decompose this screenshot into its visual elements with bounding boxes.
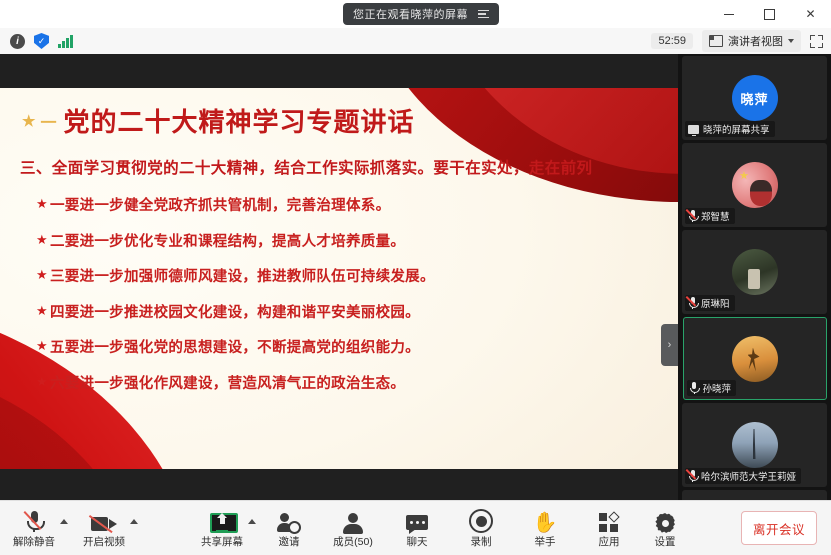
list-item-text: 六要进一步强化作风建设，营造风清气正的政治生态。: [50, 372, 405, 393]
fullscreen-icon[interactable]: [810, 35, 823, 48]
meeting-view-controls: 52:59 演讲者视图: [651, 30, 823, 52]
participants-icon: [343, 507, 363, 533]
viewing-screen-text: 您正在观看晓萍的屏幕: [353, 6, 468, 22]
participant-name: 晓萍的屏幕共享: [703, 122, 770, 136]
star-icon: ★: [36, 304, 48, 319]
collapse-filmstrip-handle[interactable]: ›: [661, 324, 678, 366]
avatar: [732, 249, 778, 295]
list-item: ★ 四要进一步推进校园文化建设，构建和谐平安美丽校园。: [36, 301, 435, 322]
invite-button[interactable]: 邀请: [261, 507, 317, 548]
avatar: [732, 336, 778, 382]
gear-icon: [655, 507, 675, 533]
participants-label: 成员(50): [333, 536, 373, 548]
share-screen-button[interactable]: 共享屏幕: [194, 507, 250, 548]
participant-tile-screenshare[interactable]: 晓萍 晓萍的屏幕共享: [682, 56, 827, 140]
list-item: ★ 五要进一步强化党的思想建设，不断提高党的组织能力。: [36, 336, 435, 357]
leave-meeting-button[interactable]: 离开会议: [741, 511, 817, 545]
participant-name: 孙晓萍: [703, 381, 732, 395]
participant-tile[interactable]: 原琳阳: [682, 230, 827, 314]
participant-tile[interactable]: 郑智慧: [682, 143, 827, 227]
chat-label: 聊天: [407, 536, 428, 548]
star-icon: ★: [36, 233, 48, 248]
avatar: [732, 422, 778, 468]
meeting-timer: 52:59: [651, 33, 693, 49]
mic-muted-icon: [27, 507, 42, 533]
raise-hand-icon: ✋: [533, 507, 558, 533]
record-icon: [469, 507, 493, 533]
presentation-slide: ★ 一 党的二十大精神学习专题讲话 三、全面学习贯彻党的二十大精神，结合工作实际…: [0, 88, 678, 469]
list-item-text: 四要进一步推进校园文化建设，构建和谐平安美丽校园。: [50, 301, 420, 322]
participants-filmstrip[interactable]: 晓萍 晓萍的屏幕共享 郑智慧 原琳阳: [678, 54, 831, 500]
participant-tile-partial[interactable]: ⌄: [682, 490, 827, 500]
signal-icon[interactable]: [58, 35, 73, 48]
chat-icon: [406, 507, 428, 533]
slide-title-dash: 一: [40, 109, 57, 133]
list-item-text: 五要进一步强化党的思想建设，不断提高党的组织能力。: [50, 336, 420, 357]
viewing-screen-banner: 您正在观看晓萍的屏幕: [343, 3, 499, 25]
unmute-label: 解除静音: [13, 536, 55, 548]
participant-tile[interactable]: 哈尔滨师范大学王莉娅: [682, 403, 827, 487]
zoom-meeting-window: 您正在观看晓萍的屏幕 ✕ i ✓ 52:59 演讲者视图: [0, 0, 831, 554]
list-item: ★ 六要进一步强化作风建设，营造风清气正的政治生态。: [36, 372, 435, 393]
window-controls: ✕: [708, 0, 831, 28]
participant-label: 郑智慧: [685, 208, 735, 224]
chevron-down-icon: [788, 39, 794, 43]
mic-icon: [690, 382, 699, 394]
avatar: [732, 162, 778, 208]
audio-options-caret[interactable]: [60, 519, 68, 524]
participants-button[interactable]: 成员(50): [325, 507, 381, 548]
list-item-text: 二要进一步优化专业和课程结构，提高人才培养质量。: [50, 230, 405, 251]
info-icon[interactable]: i: [10, 34, 25, 49]
start-video-button[interactable]: 开启视频: [76, 507, 132, 548]
record-button[interactable]: 录制: [453, 507, 509, 548]
shield-icon[interactable]: ✓: [34, 33, 49, 49]
star-icon: ★: [36, 268, 48, 283]
chat-button[interactable]: 聊天: [389, 507, 445, 548]
list-item-text: 三要进一步加强师德师风建设，推进教师队伍可持续发展。: [50, 265, 435, 286]
meeting-status-icons: i ✓: [0, 33, 73, 49]
slide-content: ★ 一 党的二十大精神学习专题讲话 三、全面学习贯彻党的二十大精神，结合工作实际…: [0, 88, 678, 469]
slide-title-text: 党的二十大精神学习专题讲话: [63, 102, 414, 139]
speaker-view-icon: [709, 35, 723, 47]
participant-name: 郑智慧: [701, 209, 730, 223]
invite-icon: [277, 507, 301, 533]
slide-title: ★ 一 党的二十大精神学习专题讲话: [22, 102, 414, 139]
star-icon: ★: [36, 197, 48, 212]
view-mode-selector[interactable]: 演讲者视图: [702, 30, 801, 52]
apps-icon: [599, 507, 619, 533]
list-item-text: 一要进一步健全党政齐抓共管机制，完善治理体系。: [50, 194, 390, 215]
share-options-caret[interactable]: [248, 519, 256, 524]
raise-hand-button[interactable]: ✋ 举手: [517, 507, 573, 548]
list-item: ★ 二要进一步优化专业和课程结构，提高人才培养质量。: [36, 230, 435, 251]
star-icon: ★: [36, 375, 48, 390]
star-icon: ★: [36, 339, 48, 354]
avatar: 晓萍: [732, 75, 778, 121]
invite-label: 邀请: [279, 536, 300, 548]
apps-label: 应用: [599, 536, 620, 548]
camera-off-icon: [91, 507, 117, 533]
participant-name: 哈尔滨师范大学王莉娅: [701, 469, 796, 483]
title-bar: 您正在观看晓萍的屏幕 ✕: [0, 0, 831, 28]
video-options-caret[interactable]: [130, 519, 138, 524]
slide-bullet-list: ★ 一要进一步健全党政齐抓共管机制，完善治理体系。 ★ 二要进一步优化专业和课程…: [36, 194, 435, 407]
mic-muted-icon: [688, 210, 697, 222]
slide-heading: 三、全面学习贯彻党的二十大精神，结合工作实际抓落实。要干在实处，走在前列: [20, 156, 592, 178]
participant-label: 晓萍的屏幕共享: [685, 121, 775, 137]
share-screen-icon: [210, 507, 234, 533]
star-icon: ★: [22, 112, 36, 130]
participant-tile-active-speaker[interactable]: 孙晓萍: [683, 317, 827, 400]
close-button[interactable]: ✕: [790, 0, 831, 28]
view-mode-label: 演讲者视图: [728, 33, 783, 49]
settings-label: 设置: [655, 536, 676, 548]
maximize-button[interactable]: [749, 0, 790, 28]
list-item: ★ 一要进一步健全党政齐抓共管机制，完善治理体系。: [36, 194, 435, 215]
screen-share-icon: [688, 125, 699, 134]
mic-muted-icon: [688, 470, 697, 482]
unmute-button[interactable]: 解除静音: [6, 507, 62, 548]
share-screen-label: 共享屏幕: [201, 536, 243, 548]
participant-name: 原琳阳: [701, 296, 730, 310]
start-video-label: 开启视频: [83, 536, 125, 548]
participant-label: 哈尔滨师范大学王莉娅: [685, 468, 801, 484]
hamburger-icon[interactable]: [478, 10, 489, 19]
record-label: 录制: [471, 536, 492, 548]
settings-button[interactable]: 设置: [637, 507, 693, 548]
mic-muted-icon: [688, 297, 697, 309]
meeting-info-bar: i ✓ 52:59 演讲者视图: [0, 28, 831, 55]
raise-hand-label: 举手: [535, 536, 556, 548]
shared-screen-stage[interactable]: ★ 一 党的二十大精神学习专题讲话 三、全面学习贯彻党的二十大精神，结合工作实际…: [0, 54, 678, 500]
minimize-button[interactable]: [708, 0, 749, 28]
meeting-toolbar: 解除静音 开启视频 共享屏幕 邀请 成员(50): [0, 500, 831, 555]
list-item: ★ 三要进一步加强师德师风建设，推进教师队伍可持续发展。: [36, 265, 435, 286]
apps-button[interactable]: 应用: [581, 507, 637, 548]
participant-label: 原琳阳: [685, 295, 735, 311]
participant-label: 孙晓萍: [687, 380, 737, 396]
